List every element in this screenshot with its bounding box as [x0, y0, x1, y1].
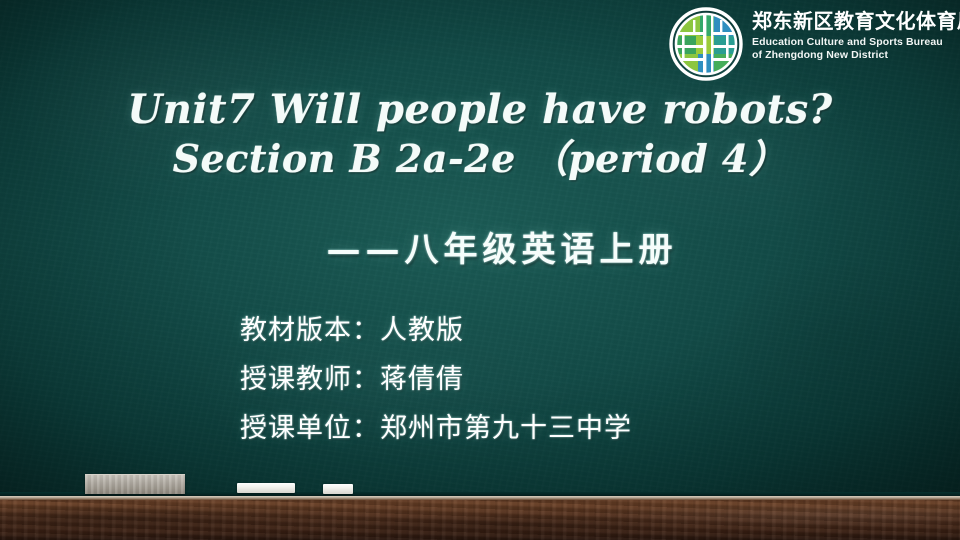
organization-logo: 郑东新区教育文化体育局 Education Culture and Sports… — [668, 6, 960, 82]
lesson-title-slide: 郑东新区教育文化体育局 Education Culture and Sports… — [0, 0, 960, 540]
chalk-stick-long — [237, 483, 295, 493]
chalk-tray-wood-grain — [0, 500, 960, 540]
zhengdong-education-bureau-emblem-icon — [668, 6, 744, 82]
organization-name-block: 郑东新区教育文化体育局 Education Culture and Sports… — [752, 6, 960, 62]
lesson-title: Unit7 Will people have robots? Section B… — [0, 88, 960, 181]
info-teacher-name: 授课教师：蒋倩倩 — [240, 355, 632, 404]
lesson-subtitle-text: ——八年级英语上册 — [327, 222, 678, 271]
info-textbook-edition: 教材版本：人教版 — [240, 306, 632, 355]
lesson-info-block: 教材版本：人教版 授课教师：蒋倩倩 授课单位：郑州市第九十三中学 — [240, 306, 632, 453]
organization-name-en: Education Culture and Sports Bureau of Z… — [752, 36, 960, 62]
lesson-title-line-1: Unit7 Will people have robots? — [0, 88, 960, 131]
lesson-title-line-2: Section B 2a-2e （period 4） — [0, 137, 960, 181]
chalk-tray-lip — [0, 496, 960, 500]
organization-name-en-line2: of Zhengdong New District — [752, 49, 960, 62]
lesson-subtitle: ——八年级英语上册 — [0, 222, 960, 271]
board-eraser — [85, 474, 185, 494]
chalk-tray-ledge — [0, 496, 960, 540]
chalk-stick-short — [323, 484, 353, 494]
organization-name-cn: 郑东新区教育文化体育局 — [752, 12, 960, 33]
organization-name-en-line1: Education Culture and Sports Bureau — [752, 36, 960, 49]
info-school-name: 授课单位：郑州市第九十三中学 — [240, 404, 632, 453]
